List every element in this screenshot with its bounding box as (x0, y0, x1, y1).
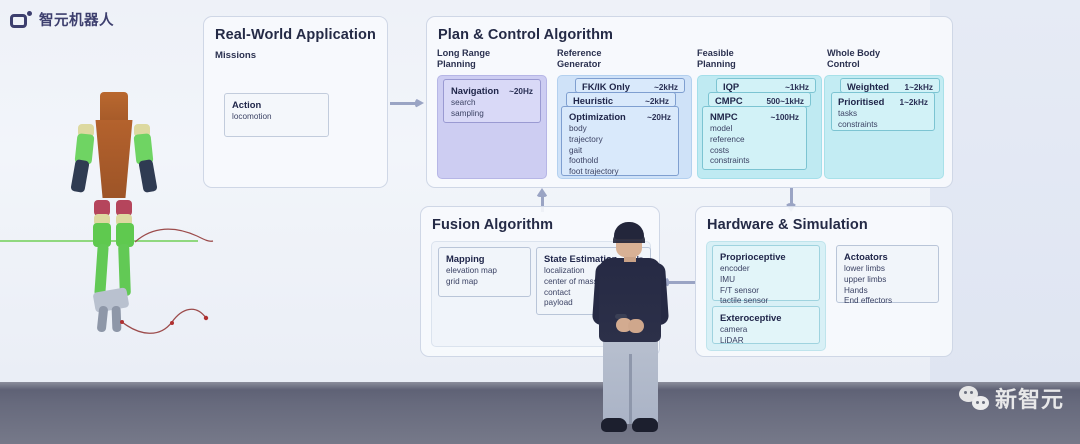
card-header-heuristic: Heuristic ~2kHz (573, 95, 669, 106)
panel-plan-control-algorithm: Plan & Control Algorithm Long Range Plan… (426, 16, 953, 188)
presenter-shoe-left (601, 418, 627, 432)
card-body-action: locomotion (232, 112, 321, 123)
card-frequency: ~1kHz (785, 83, 809, 92)
card-title: Navigation (451, 85, 499, 96)
wechat-watermark: 新智元 (959, 382, 1064, 414)
card-title: Proprioceptive (720, 251, 786, 262)
slide-diagram: Real-World Application Missions Action l… (0, 0, 1080, 444)
card-action: Action locomotion (224, 93, 329, 137)
card-exteroceptive: Exteroceptive camera LiDAR (712, 306, 820, 344)
card-title: Heuristic (573, 95, 613, 106)
card-header-mapping: Mapping (446, 253, 523, 264)
card-body-exteroceptive: camera LiDAR (720, 325, 812, 347)
card-frequency: 500~1kHz (766, 97, 804, 106)
card-frequency: ~20Hz (509, 87, 533, 96)
card-title: FK/IK Only (582, 81, 630, 92)
card-body-mapping: elevation map grid map (446, 266, 523, 288)
presenter-person (588, 222, 674, 444)
card-header-prioritised: Prioritised 1~2kHz (838, 96, 928, 107)
column-label-reference-generator: Reference Generator (557, 48, 601, 70)
card-title: Action (232, 99, 261, 110)
panel-real-world-application: Real-World Application Missions Action l… (203, 16, 388, 188)
presenter-shoe-right (632, 418, 658, 432)
panel-title-real-world: Real-World Application (215, 27, 376, 43)
card-frequency: ~2kHz (654, 83, 678, 92)
card-proprioceptive: Proprioceptive encoder IMU F/T sensor ta… (712, 245, 820, 301)
card-title: CMPC (715, 95, 743, 106)
card-prioritised: Prioritised 1~2kHz tasks constraints (831, 92, 935, 131)
card-mapping: Mapping elevation map grid map (438, 247, 531, 297)
arrow-realworld-to-plan (390, 98, 426, 108)
presenter-glasses (615, 240, 643, 245)
card-cmpc: CMPC 500~1kHz (708, 92, 811, 107)
card-header-fk-ik-only: FK/IK Only ~2kHz (582, 81, 678, 92)
card-header-proprioceptive: Proprioceptive (720, 251, 812, 262)
card-header-cmpc: CMPC 500~1kHz (715, 95, 804, 106)
card-frequency: 1~2kHz (905, 83, 933, 92)
card-title: NMPC (710, 111, 738, 122)
card-header-nmpc: NMPC ~100Hz (710, 111, 799, 122)
card-body-prioritised: tasks constraints (838, 109, 928, 131)
presenter-leg-split (629, 354, 632, 424)
card-header-actoators: Actoators (844, 251, 931, 262)
card-header-action: Action (232, 99, 321, 110)
card-body-navigation: search sampling (451, 98, 533, 120)
presenter-cap (614, 222, 644, 239)
card-title: IQP (723, 81, 739, 92)
card-frequency: ~2kHz (645, 97, 669, 106)
card-optimization: Optimization ~20Hz body trajectory gait … (561, 106, 679, 176)
card-frequency: 1~2kHz (900, 98, 928, 107)
wechat-icon (959, 386, 989, 410)
card-header-exteroceptive: Exteroceptive (720, 312, 812, 323)
card-title: Exteroceptive (720, 312, 782, 323)
presenter-hand-right (628, 319, 644, 333)
section-label-missions: Missions (215, 50, 256, 61)
column-label-feasible-planning: Feasible Planning (697, 48, 736, 70)
card-fk-ik-only: FK/IK Only ~2kHz (575, 78, 685, 93)
column-label-long-range-planning: Long Range Planning (437, 48, 490, 70)
card-header-optimization: Optimization ~20Hz (569, 111, 671, 122)
card-body-proprioceptive: encoder IMU F/T sensor tactile sensor (720, 264, 812, 307)
card-iqp: IQP ~1kHz (716, 78, 816, 93)
card-frequency: ~20Hz (647, 113, 671, 122)
panel-title-fusion: Fusion Algorithm (432, 217, 553, 233)
panel-hardware-simulation: Hardware & Simulation Proprioceptive enc… (695, 206, 953, 357)
watermark-text: 新智元 (995, 382, 1064, 414)
card-actoators: Actoators lower limbs upper limbs Hands … (836, 245, 939, 303)
card-body-actoators: lower limbs upper limbs Hands End effect… (844, 264, 931, 307)
card-body-optimization: body trajectory gait foothold foot traje… (569, 124, 671, 178)
card-title: Actoators (844, 251, 888, 262)
card-frequency: ~100Hz (771, 113, 799, 122)
card-header-navigation: Navigation ~20Hz (451, 85, 533, 96)
card-title: Weighted (847, 81, 889, 92)
card-title: Prioritised (838, 96, 884, 107)
card-header-iqp: IQP ~1kHz (723, 81, 809, 92)
card-header-weighted: Weighted 1~2kHz (847, 81, 933, 92)
card-weighted: Weighted 1~2kHz (840, 78, 940, 93)
card-title: Optimization (569, 111, 626, 122)
card-nmpc: NMPC ~100Hz model reference costs constr… (702, 106, 807, 170)
card-body-nmpc: model reference costs constraints (710, 124, 799, 167)
column-label-whole-body-control: Whole Body Control (827, 48, 880, 70)
panel-title-plan-control: Plan & Control Algorithm (438, 27, 613, 43)
card-title: Mapping (446, 253, 485, 264)
card-heuristic: Heuristic ~2kHz (566, 92, 676, 107)
panel-title-hardware: Hardware & Simulation (707, 217, 868, 233)
card-navigation: Navigation ~20Hz search sampling (443, 79, 541, 123)
